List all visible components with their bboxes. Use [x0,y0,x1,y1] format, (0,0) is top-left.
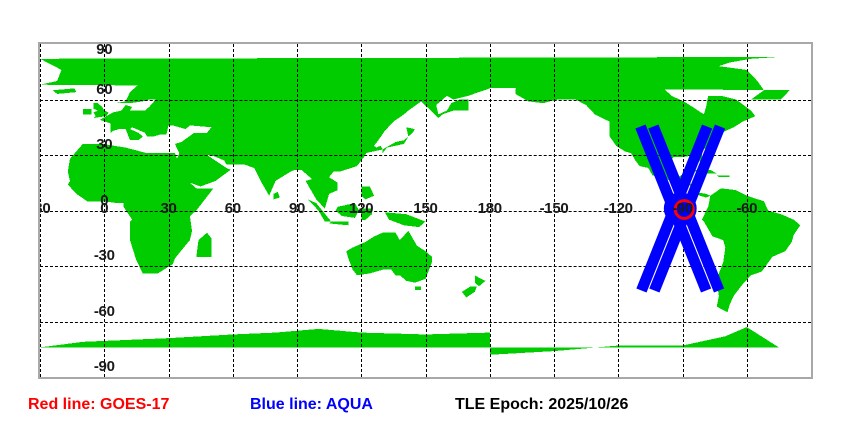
lon-tick-label: 90 [289,200,305,217]
legend-aqua: Blue line: AQUA [250,396,373,414]
landmass [475,275,486,286]
landmass [329,222,348,226]
lon-tick-label: -60 [736,200,757,217]
landmass [94,103,109,118]
lon-tick-label: -150 [540,200,569,217]
landmass [83,109,92,115]
lat-tick-label: 60 [96,81,112,98]
landmass [53,88,77,94]
landmass [196,233,211,257]
lon-tick-label: 180 [478,200,502,217]
lon-tick-label: 150 [413,200,437,217]
lon-tick-label: 120 [349,200,373,217]
lat-tick-label: -60 [94,303,115,320]
legend-tle-epoch: TLE Epoch: 2025/10/26 [455,396,628,414]
legend-goes17: Red line: GOES-17 [28,396,169,414]
map-canvas: -300306090120150180-150-120-90-60 906030… [40,44,811,377]
lon-tick-label: 60 [225,200,241,217]
lat-tick-label: 30 [96,136,112,153]
landmass [717,175,730,177]
landmass [346,231,432,283]
lon-tick-label: -30 [40,200,50,217]
lat-tick-label: -90 [94,358,115,375]
landmass [361,186,374,199]
lon-tick-label: -120 [604,200,633,217]
lat-tick-label: 0 [100,192,108,209]
world-map-plot: -300306090120150180-150-120-90-60 906030… [38,42,813,379]
landmass [415,286,421,290]
lat-tick-label: 90 [96,44,112,58]
landmass [383,127,415,153]
lat-tick-label: -30 [94,247,115,264]
landmass [462,286,477,297]
landmass [273,192,279,199]
lon-tick-label: 30 [160,200,176,217]
legend-bar: Red line: GOES-17 Blue line: AQUA TLE Ep… [0,396,850,420]
landmass [693,170,717,174]
lon-tick-label: -90 [672,200,693,217]
landmass [40,327,779,377]
